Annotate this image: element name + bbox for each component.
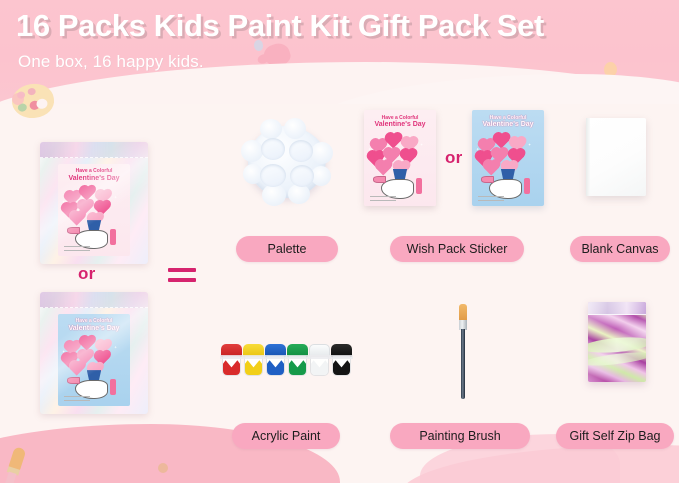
decor-dot-pink-icon [12, 93, 24, 105]
label-painting-brush: Painting Brush [390, 423, 530, 449]
heart-bouquet-illustration [364, 131, 436, 206]
paint-pot-green [286, 344, 309, 378]
paint-pot-blue [264, 344, 287, 378]
decor-dot-tan-icon [158, 463, 168, 473]
paint-pot-yellow [242, 344, 265, 378]
package-or-separator: or [78, 264, 96, 284]
paint-pot-red [220, 344, 243, 378]
brush-handle [461, 329, 465, 399]
page-subtitle: One box, 16 happy kids. [18, 52, 204, 72]
label-acrylic-paint: Acrylic Paint [232, 423, 340, 449]
paint-pot-white [308, 344, 331, 378]
label-palette: Palette [236, 236, 338, 262]
acrylic-paint-product[interactable] [220, 344, 352, 378]
sticker-or-separator: or [445, 148, 463, 168]
paint-kit-package-pink[interactable]: Have a Colorful Valentine's Day [40, 142, 148, 264]
gift-tag-shape [481, 176, 494, 183]
palette-product[interactable] [248, 126, 326, 198]
sticker-title-line2: Valentine's Day [368, 121, 431, 129]
painting-brush-product[interactable] [458, 304, 468, 399]
blank-canvas-product[interactable] [586, 118, 646, 196]
gift-self-zip-bag-product[interactable] [588, 302, 646, 382]
heart-bouquet-illustration [472, 131, 544, 206]
wish-pack-sticker-blue[interactable]: Have a Colorful Valentine's Day [472, 110, 544, 206]
label-blank-canvas: Blank Canvas [570, 236, 670, 262]
sleeve-cuff-shape [524, 178, 530, 194]
gift-tag-shape [373, 176, 386, 183]
paint-kit-package-blue[interactable]: Have a Colorful Valentine's Day [40, 292, 148, 414]
brush-bristles [459, 304, 467, 321]
page-title: 16 Packs Kids Paint Kit Gift Pack Set [16, 8, 544, 44]
equals-separator [168, 268, 196, 284]
label-gift-self-zip-bag: Gift Self Zip Bag [556, 423, 674, 449]
product-infographic: 16 Packs Kids Paint Kit Gift Pack Set On… [0, 0, 679, 483]
label-wish-pack-sticker: Wish Pack Sticker [390, 236, 524, 262]
sleeve-cuff-shape [416, 178, 422, 194]
paint-pot-black [330, 344, 353, 378]
sticker-title-line2: Valentine's Day [476, 121, 539, 129]
wish-pack-sticker-pink[interactable]: Have a Colorful Valentine's Day [364, 110, 436, 206]
